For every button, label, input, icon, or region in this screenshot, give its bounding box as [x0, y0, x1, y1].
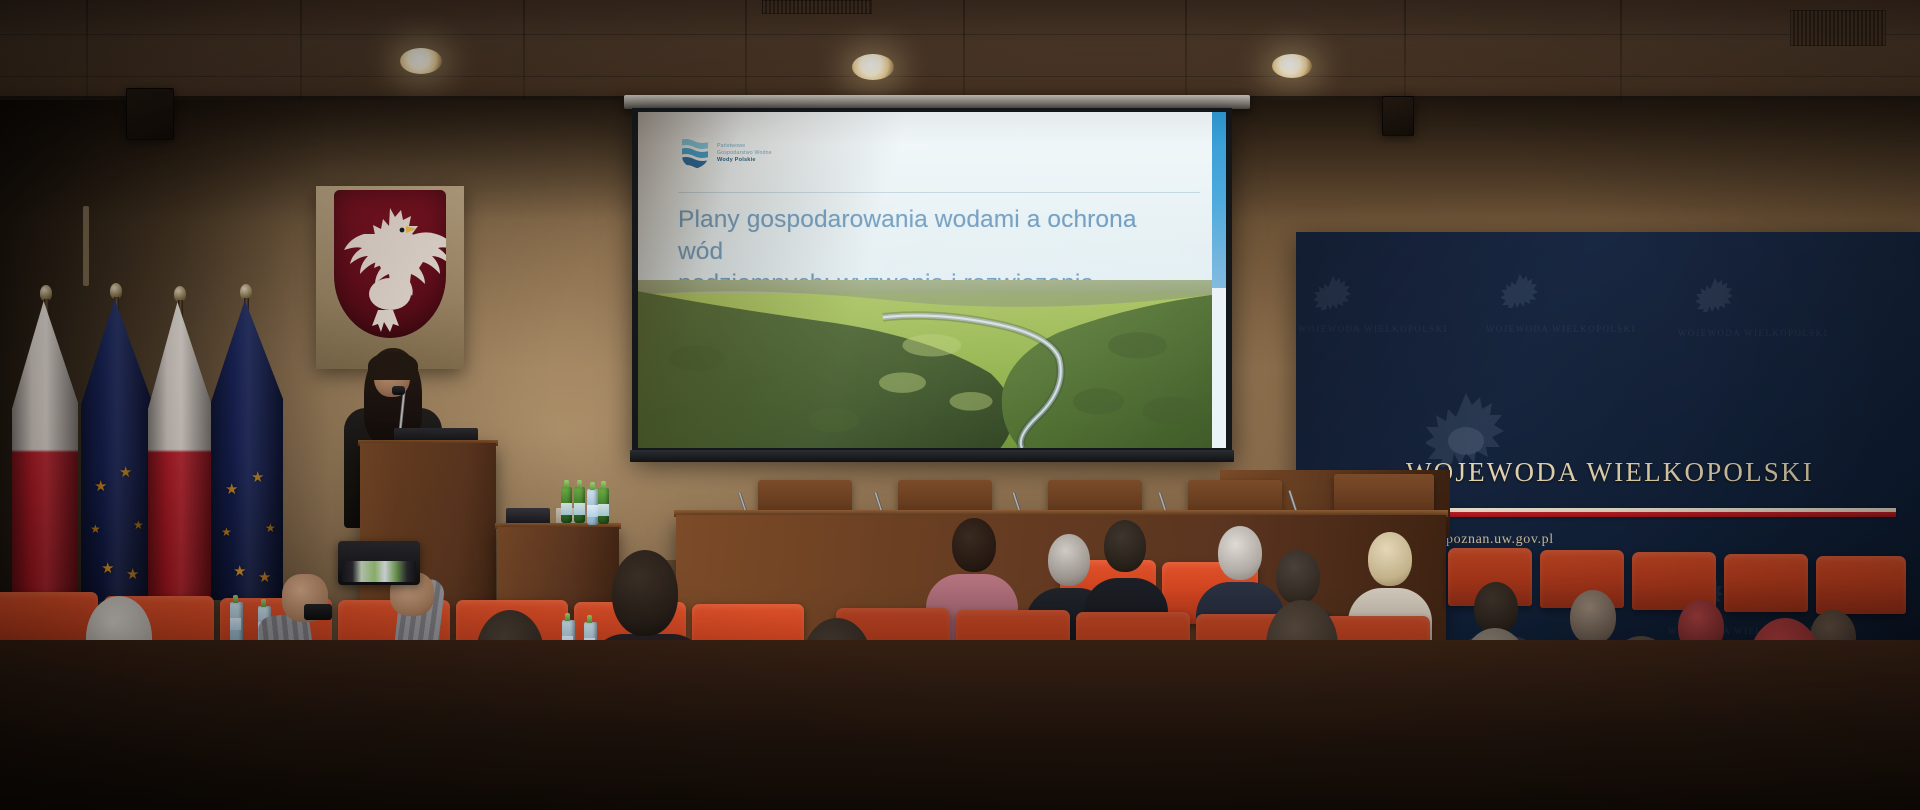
flag-cloth-eu: ★ ★ ★ ★ ★ ★	[211, 300, 283, 600]
auditorium-seat	[1816, 556, 1906, 614]
flag-cloth-poland	[148, 302, 212, 600]
wristwatch	[304, 604, 332, 620]
water-bottle	[598, 488, 609, 524]
slide-title-line-1: Plany gospodarowania wodami a ochrona wó…	[678, 204, 1156, 268]
floor	[0, 640, 1920, 810]
smartphone	[338, 541, 420, 585]
slide-accent-stripe	[1212, 112, 1226, 288]
polish-coat-of-arms-plaque	[316, 186, 464, 369]
ceiling-vent	[762, 0, 872, 14]
ceiling-vent	[1790, 10, 1886, 46]
podium-microphone	[392, 386, 405, 395]
conference-hall-photo: ★ ★ ★ ★ ★ ★ ★ ★ ★ ★ ★ ★	[0, 0, 1920, 810]
water-shield-icon	[680, 136, 710, 170]
ceiling-light	[852, 54, 894, 80]
audience-head	[1276, 550, 1320, 604]
slide-aerial-photo	[638, 280, 1212, 448]
ceiling-light	[400, 48, 442, 74]
water-bottle	[561, 487, 572, 523]
slide-divider	[678, 192, 1200, 193]
logo-line-3: Wody Polskie	[717, 157, 772, 163]
wall-speaker-right	[1382, 96, 1414, 136]
audience-head	[952, 518, 996, 572]
projected-slide: Państwowe Gospodarstwo Wodne Wody Polski…	[638, 112, 1226, 448]
coat-of-arms-shield	[334, 190, 446, 338]
presenter-hair-front	[368, 352, 418, 380]
audience-head	[1368, 532, 1412, 586]
flag-cloth-poland	[12, 301, 78, 601]
ceiling-light	[1272, 54, 1312, 78]
logo-line-2: Gospodarstwo Wodne	[717, 150, 772, 156]
flag-cloth-eu: ★ ★ ★ ★ ★ ★	[81, 299, 151, 601]
white-eagle-icon	[334, 190, 446, 338]
projection-screen-bottom-bar	[630, 450, 1234, 462]
wody-polskie-logo: Państwowe Gospodarstwo Wodne Wody Polski…	[680, 136, 772, 170]
flag-european-union: ★ ★ ★ ★ ★ ★	[208, 284, 304, 604]
audience-head	[1474, 582, 1518, 634]
audience-head	[1104, 520, 1146, 572]
logo-line-1: Państwowe	[717, 143, 772, 149]
smartphone-screen	[342, 561, 416, 582]
projection-screen: Państwowe Gospodarstwo Wodne Wody Polski…	[632, 108, 1232, 456]
wall-outlet-plate	[83, 206, 89, 286]
audience-head	[612, 550, 678, 636]
projection-screen-housing	[624, 95, 1250, 109]
water-bottle	[574, 487, 585, 523]
wall-speaker-left	[126, 88, 174, 140]
water-bottle	[587, 489, 598, 525]
